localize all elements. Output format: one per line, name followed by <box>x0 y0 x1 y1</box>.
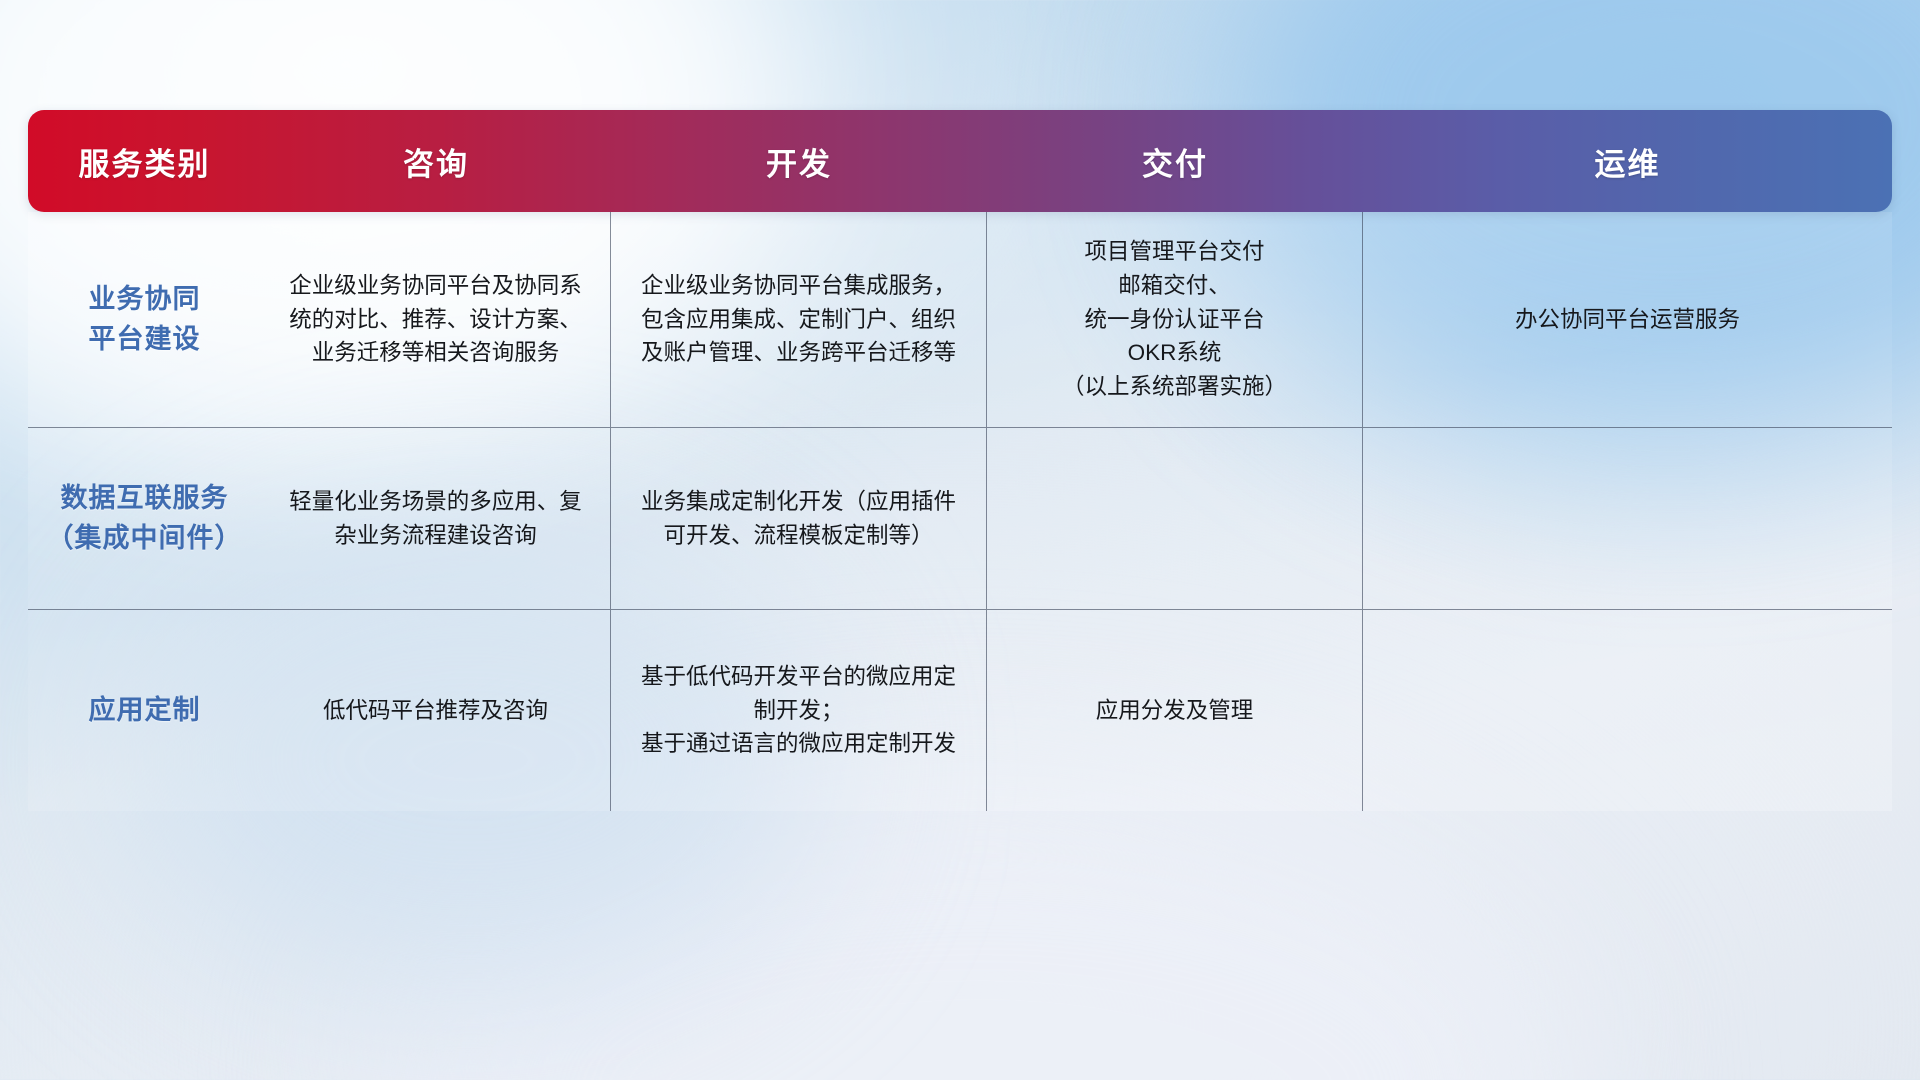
slide-canvas: 服务类别 咨询 开发 交付 运维 业务协同 平台建设 企业级业务协同平台及协同系… <box>0 0 1920 1080</box>
row-operations-cell: 办公协同平台运营服务 <box>1363 212 1892 427</box>
column-header-label: 开发 <box>766 139 832 184</box>
column-header-label: 服务类别 <box>79 139 211 184</box>
row-delivery-cell <box>987 428 1363 609</box>
row-development-cell: 企业级业务协同平台集成服务， 包含应用集成、定制门户、组织 及账户管理、业务跨平… <box>611 212 987 427</box>
background-blob-bottom <box>380 780 1580 1080</box>
row-operations-cell <box>1363 610 1892 811</box>
row-category-cell: 应用定制 <box>28 610 261 811</box>
row-delivery-cell: 应用分发及管理 <box>987 610 1363 811</box>
row-development-cell: 基于低代码开发平台的微应用定 制开发； 基于通过语言的微应用定制开发 <box>611 610 987 811</box>
row-consulting-cell: 企业级业务协同平台及协同系 统的对比、推荐、设计方案、 业务迁移等相关咨询服务 <box>261 212 611 427</box>
row-delivery-cell: 项目管理平台交付 邮箱交付、 统一身份认证平台 OKR系统 （以上系统部署实施） <box>987 212 1363 427</box>
row-category-cell: 数据互联服务 （集成中间件） <box>28 428 261 609</box>
table-header-row: 服务类别 咨询 开发 交付 运维 <box>28 110 1892 212</box>
service-matrix-table: 服务类别 咨询 开发 交付 运维 业务协同 平台建设 企业级业务协同平台及协同系… <box>28 110 1892 811</box>
column-header-label: 咨询 <box>403 139 469 184</box>
row-development-cell: 业务集成定制化开发（应用插件 可开发、流程模板定制等） <box>611 428 987 609</box>
column-header-development: 开发 <box>611 110 987 212</box>
table-row: 数据互联服务 （集成中间件） 轻量化业务场景的多应用、复 杂业务流程建设咨询 业… <box>28 427 1892 609</box>
column-header-operations: 运维 <box>1363 110 1892 212</box>
table-body: 业务协同 平台建设 企业级业务协同平台及协同系 统的对比、推荐、设计方案、 业务… <box>28 212 1892 811</box>
column-header-service-category: 服务类别 <box>28 110 261 212</box>
column-header-label: 运维 <box>1595 139 1661 184</box>
column-header-delivery: 交付 <box>987 110 1363 212</box>
column-header-label: 交付 <box>1142 139 1208 184</box>
row-consulting-cell: 低代码平台推荐及咨询 <box>261 610 611 811</box>
table-row: 应用定制 低代码平台推荐及咨询 基于低代码开发平台的微应用定 制开发； 基于通过… <box>28 609 1892 811</box>
row-operations-cell <box>1363 428 1892 609</box>
column-header-consulting: 咨询 <box>261 110 611 212</box>
row-category-cell: 业务协同 平台建设 <box>28 212 261 427</box>
table-row: 业务协同 平台建设 企业级业务协同平台及协同系 统的对比、推荐、设计方案、 业务… <box>28 212 1892 427</box>
row-consulting-cell: 轻量化业务场景的多应用、复 杂业务流程建设咨询 <box>261 428 611 609</box>
